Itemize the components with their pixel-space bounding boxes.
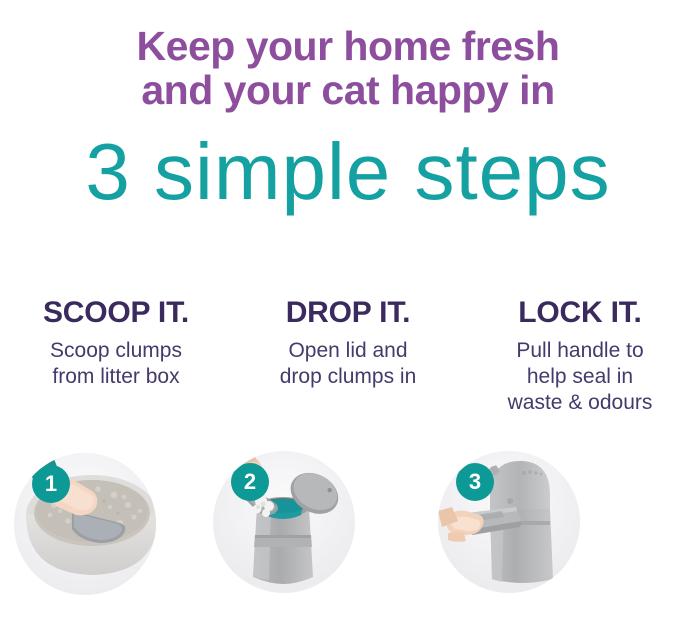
step-photos-row: 1 <box>0 449 696 609</box>
step-description-3: Pull handle to help seal in waste & odou… <box>464 338 696 416</box>
headline-line-2: and your cat happy in <box>0 68 696 112</box>
headline-line-1: Keep your home fresh <box>0 24 696 68</box>
subheadline: 3 simple steps <box>0 126 696 218</box>
step-column-3: LOCK IT. Pull handle to help seal in was… <box>464 296 696 416</box>
steps-row: SCOOP IT. Scoop clumps from litter box D… <box>0 296 696 416</box>
page-headline: Keep your home fresh and your cat happy … <box>0 24 696 112</box>
infographic-root: Keep your home fresh and your cat happy … <box>0 0 696 622</box>
step-description-3-line-1: Pull handle to <box>470 338 690 364</box>
step-description-3-line-3: waste & odours <box>470 390 690 416</box>
step-badge-1: 1 <box>32 465 70 503</box>
step-column-2: DROP IT. Open lid and drop clumps in <box>232 296 464 390</box>
step-description-2-line-2: drop clumps in <box>238 364 458 390</box>
step-description-3-line-2: help seal in <box>470 364 690 390</box>
step-badge-3: 3 <box>456 463 494 501</box>
step-description-2-line-1: Open lid and <box>238 338 458 364</box>
step-title-1: SCOOP IT. <box>0 296 232 330</box>
step-column-1: SCOOP IT. Scoop clumps from litter box <box>0 296 232 390</box>
step-description-1: Scoop clumps from litter box <box>0 338 232 390</box>
step-description-2: Open lid and drop clumps in <box>232 338 464 390</box>
step-photo-2: 2 <box>213 451 355 593</box>
step-title-3: LOCK IT. <box>464 296 696 330</box>
step-description-1-line-2: from litter box <box>6 364 226 390</box>
step-photo-1: 1 <box>14 453 156 595</box>
step-title-2: DROP IT. <box>232 296 464 330</box>
step-description-1-line-1: Scoop clumps <box>6 338 226 364</box>
step-photo-3: 3 <box>438 451 580 593</box>
step-badge-2: 2 <box>231 463 269 501</box>
